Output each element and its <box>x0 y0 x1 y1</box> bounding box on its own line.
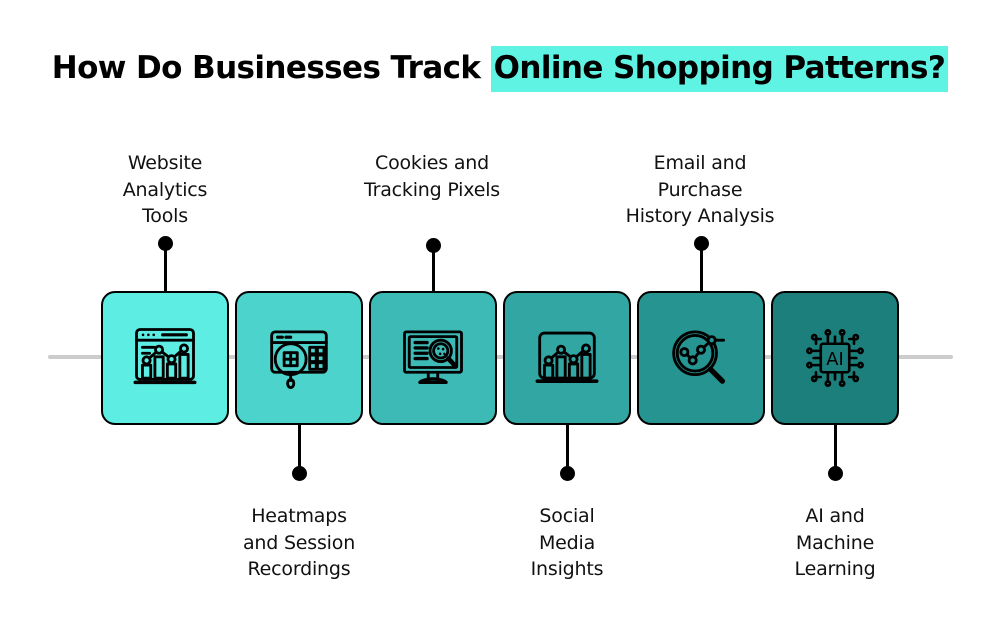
step-card-cookies-tracking-pixels[interactable] <box>369 291 497 425</box>
step-label-email-purchase-history-analysis: Email and Purchase History Analysis <box>580 150 820 230</box>
chart-board-bars-line-icon <box>529 320 605 396</box>
step-card-ai-machine-learning[interactable]: AI <box>771 291 899 425</box>
step-card-social-media-insights[interactable] <box>503 291 631 425</box>
connector-stem-1 <box>164 248 167 292</box>
step-card-email-purchase-history-analysis[interactable] <box>637 291 765 425</box>
step-label-heatmaps-session-recordings: Heatmaps and Session Recordings <box>179 503 419 583</box>
website-analytics-dashboard-icon <box>127 320 203 396</box>
connector-stem-2 <box>298 424 301 470</box>
step-label-cookies-tracking-pixels: Cookies and Tracking Pixels <box>312 150 552 203</box>
page-title: How Do Businesses Track Online Shopping … <box>0 46 1000 90</box>
step-label-website-analytics-tools: Website Analytics Tools <box>45 150 285 230</box>
connector-stem-6 <box>834 424 837 470</box>
step-cards-row: AI <box>101 291 901 425</box>
connector-dot-1 <box>158 236 173 251</box>
step-card-heatmaps-session-recordings[interactable] <box>235 291 363 425</box>
page-title-highlight: Online Shopping Patterns? <box>491 46 949 92</box>
connector-dot-2 <box>292 466 307 481</box>
magnifier-line-graph-icon <box>663 320 739 396</box>
step-label-social-media-insights: Social Media Insights <box>447 503 687 583</box>
connector-dot-4 <box>560 466 575 481</box>
step-label-ai-machine-learning: AI and Machine Learning <box>715 503 955 583</box>
svg-text:AI: AI <box>826 349 843 370</box>
connector-stem-4 <box>566 424 569 470</box>
heatmap-magnifier-browser-icon <box>261 320 337 396</box>
monitor-cookie-magnifier-icon <box>395 320 471 396</box>
connector-dot-6 <box>828 466 843 481</box>
connector-stem-5 <box>700 248 703 292</box>
ai-chip-icon: AI <box>797 320 873 396</box>
connector-dot-3 <box>426 238 441 253</box>
connector-dot-5 <box>694 236 709 251</box>
connector-stem-3 <box>432 250 435 292</box>
step-card-website-analytics-tools[interactable] <box>101 291 229 425</box>
page-title-plain: How Do Businesses Track <box>52 50 491 86</box>
